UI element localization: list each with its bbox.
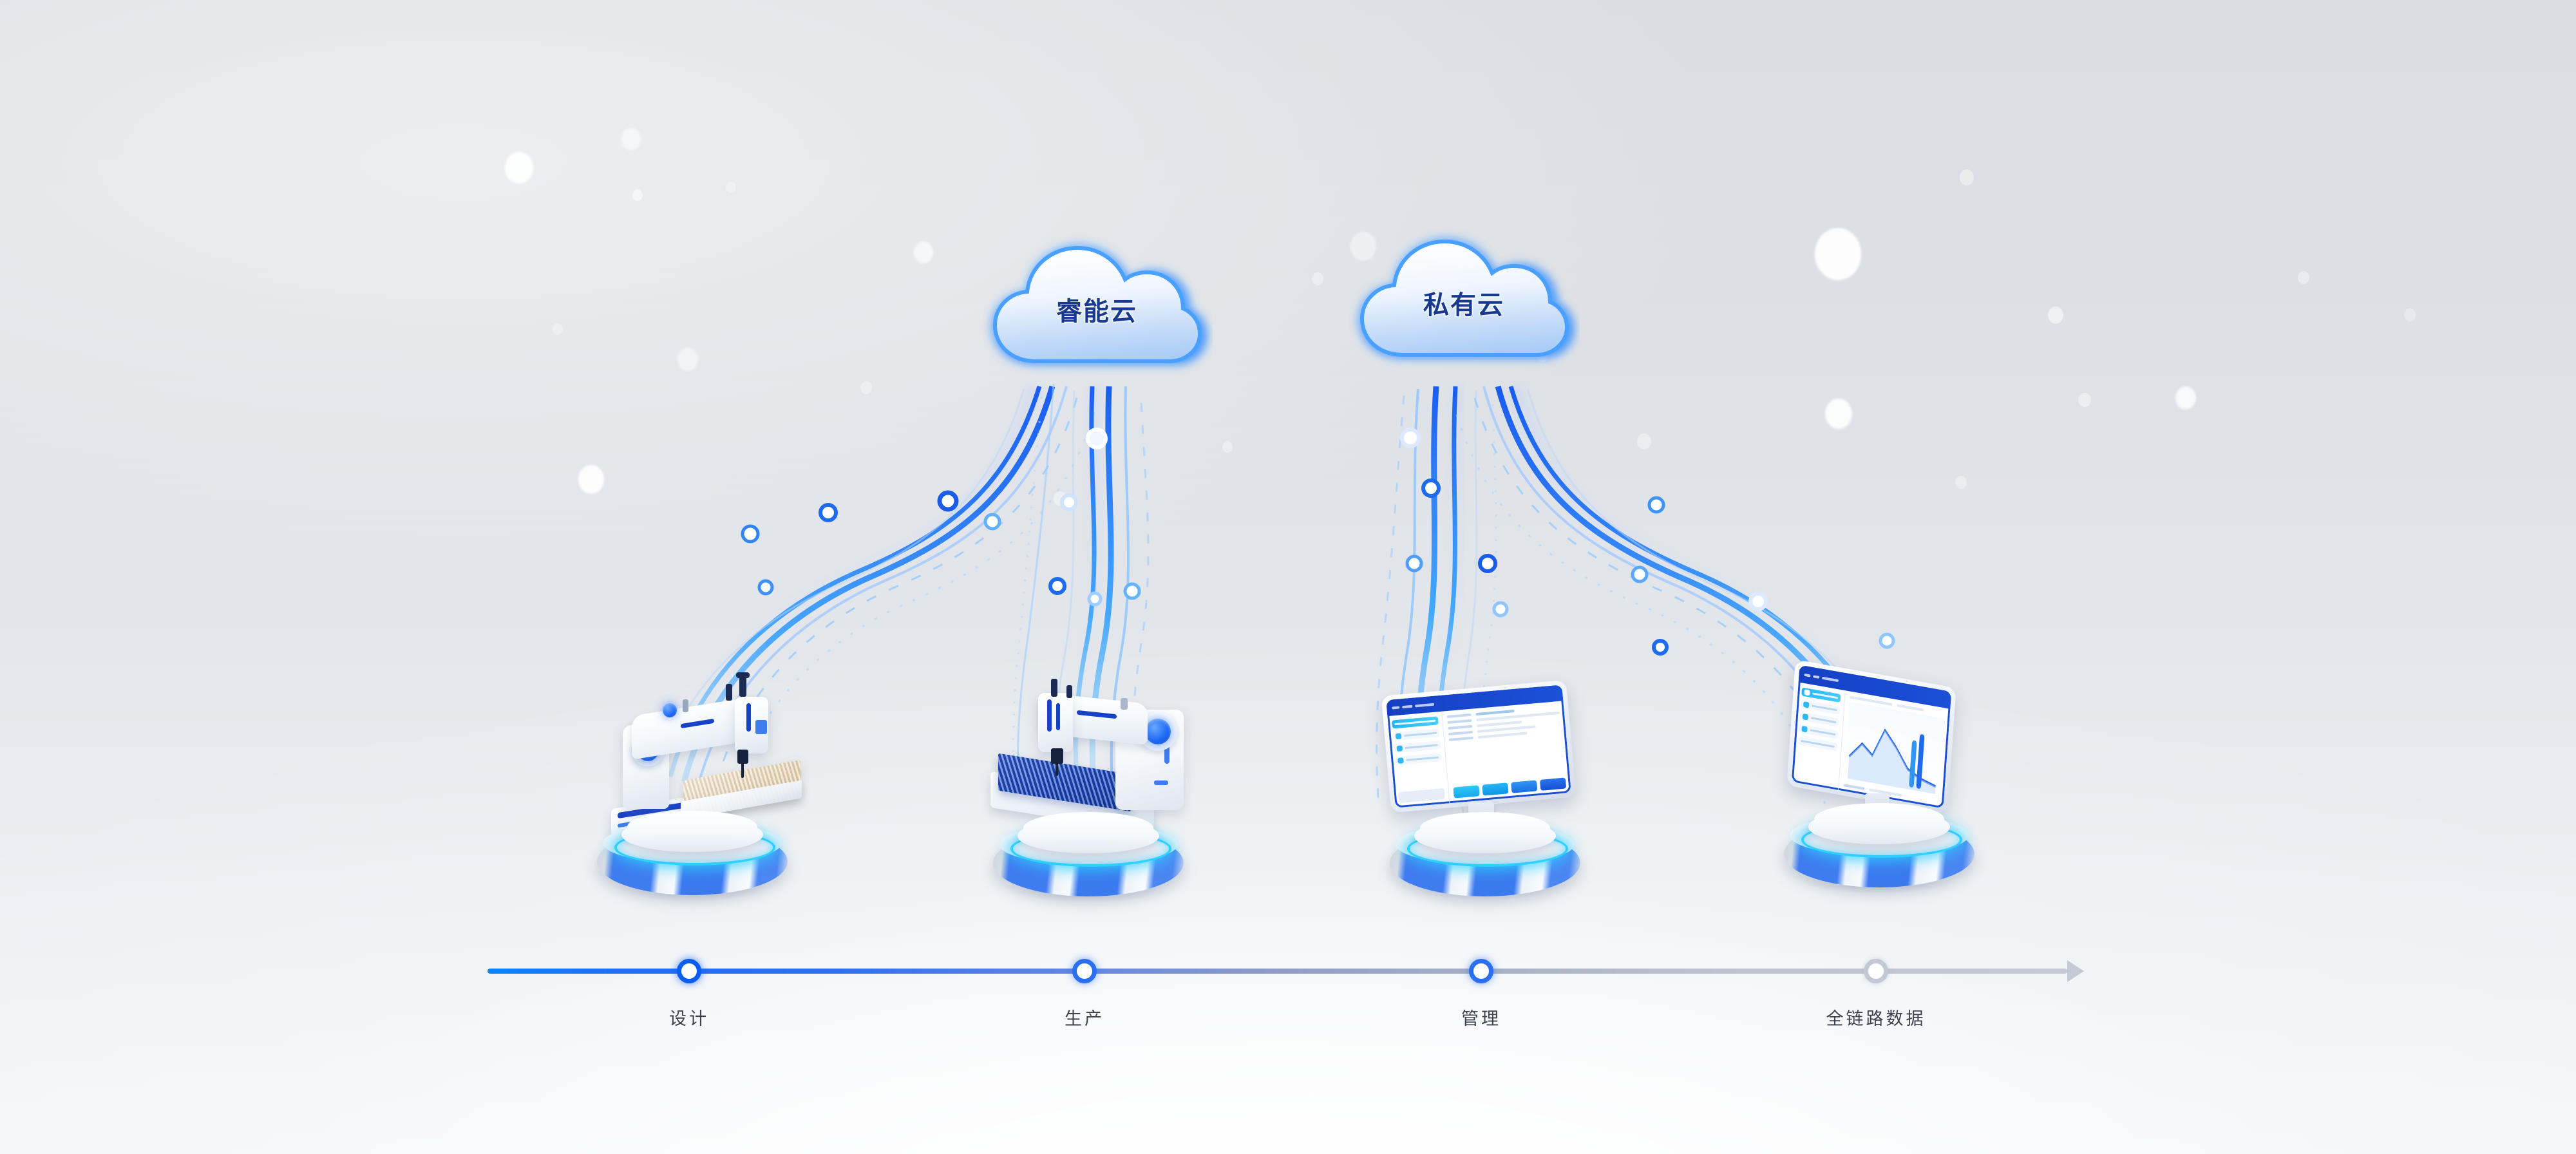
topbar-text-1 (1392, 706, 1399, 709)
bokeh-dot (553, 323, 563, 335)
timeline-label-1: 设计 (669, 1005, 709, 1030)
cloud-shape-icon (1348, 222, 1580, 377)
machine-head (1038, 693, 1073, 752)
topbar-text-2 (1813, 675, 1819, 679)
dashboard-sidebar[interactable] (1387, 712, 1450, 808)
bokeh-dot (726, 182, 736, 193)
sidebar-item-selected[interactable] (1392, 717, 1439, 729)
bokeh-dot (621, 128, 641, 150)
cloud-shape-icon (981, 229, 1213, 383)
action-button-4[interactable] (1540, 777, 1566, 790)
timeline-node-3[interactable] (1469, 959, 1493, 983)
pedestal (1784, 820, 1975, 887)
background-particles (0, 0, 2576, 1154)
spool-pin-2 (1066, 685, 1072, 698)
timeline-node-2[interactable] (1072, 959, 1097, 983)
sidebar-item-icon (1801, 726, 1808, 733)
head-stripe (1047, 699, 1052, 732)
timeline-label-2: 生产 (1065, 1005, 1104, 1030)
sidebar-item-icon (1803, 701, 1810, 708)
sidebar-item-icon (1804, 689, 1810, 696)
device-data-monitor[interactable] (1772, 665, 1985, 896)
pedestal-inner-top (627, 811, 757, 843)
sidebar-item[interactable] (1395, 753, 1442, 765)
action-button-2[interactable] (1482, 782, 1508, 795)
head-stripe (746, 703, 751, 732)
sidebar-item-label (1811, 717, 1837, 724)
sidebar-item-icon (1396, 746, 1403, 752)
monitor-frame (1381, 680, 1577, 813)
pedestal-inner-top (1023, 812, 1153, 844)
sidebar-item-label (1405, 744, 1438, 749)
timeline-node-4[interactable] (1864, 959, 1888, 983)
head-indicator (755, 720, 767, 734)
sidebar-item-icon (1803, 714, 1809, 721)
sidebar-item-label (1810, 730, 1835, 736)
bokeh-dot (914, 241, 933, 263)
timeline-arrow-icon (2067, 960, 2084, 982)
topbar-text-3 (1822, 676, 1839, 682)
spool-cap (736, 672, 750, 678)
sidebar-item-icon (1397, 757, 1404, 764)
dashboard-screen[interactable] (1386, 685, 1571, 808)
bokeh-dot (860, 381, 872, 394)
sidebar-item-label (1406, 757, 1439, 761)
spool-pin-1 (1051, 679, 1057, 697)
detail-value (1476, 710, 1515, 715)
cloud-private[interactable]: 私有云 (1348, 222, 1580, 377)
needle-clamp (737, 750, 748, 764)
line-and-bar-chart (1844, 702, 1945, 798)
thread-guide (683, 699, 688, 712)
head-stripe-2 (1056, 703, 1060, 730)
analytics-sidebar[interactable] (1792, 683, 1846, 790)
detail-key (1448, 731, 1473, 735)
pedestal (993, 829, 1184, 896)
bokeh-dot (1222, 441, 1233, 453)
topbar-text-3 (1415, 703, 1434, 707)
sidebar-footer-button[interactable] (1398, 788, 1445, 803)
bokeh-dot (2298, 271, 2309, 284)
topbar-text-1 (1804, 673, 1810, 677)
sidebar-item-label (1812, 705, 1837, 712)
spool-pin-1 (726, 684, 732, 701)
sidebar-item[interactable] (1394, 741, 1441, 753)
action-button-1[interactable] (1453, 785, 1479, 798)
bokeh-dot (2404, 308, 2416, 321)
bokeh-dot (1054, 491, 1066, 506)
needle (1056, 762, 1058, 776)
bokeh-dot (1955, 476, 1967, 489)
bokeh-dot (578, 465, 604, 494)
bokeh-dot (505, 152, 533, 184)
device-management-monitor[interactable] (1378, 676, 1591, 902)
needle (741, 762, 744, 778)
detail-key (1447, 719, 1472, 724)
analytics-screen[interactable] (1792, 665, 1951, 808)
pedestal-inner-top (1420, 812, 1549, 844)
monitor-frame (1786, 659, 1956, 814)
sidebar-item[interactable] (1798, 737, 1837, 752)
bokeh-dot (1825, 399, 1852, 429)
bokeh-dot (677, 348, 698, 371)
device-design-machine[interactable] (583, 663, 802, 902)
action-button-3[interactable] (1511, 780, 1537, 793)
handwheel[interactable] (1145, 719, 1171, 744)
sidebar-item-label (1394, 720, 1435, 726)
chart-area (1844, 702, 1945, 798)
detail-key (1447, 714, 1472, 718)
analytics-main (1839, 691, 1950, 809)
sidebar-item[interactable] (1393, 728, 1440, 741)
detail-key (1449, 737, 1474, 741)
bokeh-dot (1815, 228, 1861, 280)
bokeh-dot (632, 189, 643, 201)
bokeh-dot (2175, 386, 2196, 410)
topbar-text-2 (1402, 705, 1412, 708)
detail-value (1477, 721, 1522, 727)
device-production-machine[interactable] (979, 670, 1198, 908)
sidebar-item-label (1801, 740, 1834, 748)
dashboard-body (1387, 701, 1571, 808)
bokeh-dot (1312, 272, 1323, 285)
sidebar-item-label (1812, 693, 1838, 699)
timeline-label-3: 管理 (1461, 1005, 1501, 1030)
action-button-row[interactable] (1453, 777, 1566, 798)
sidebar-item-label (1404, 732, 1437, 737)
bokeh-dot (2078, 393, 2091, 407)
spool-pin-2 (739, 675, 746, 697)
timeline-node-1[interactable] (677, 959, 701, 983)
pedestal-inner-top (1814, 803, 1944, 835)
detail-value (1478, 732, 1528, 739)
timeline-label-4: 全链路数据 (1826, 1005, 1926, 1030)
dashboard-main (1442, 701, 1571, 803)
detail-key (1448, 725, 1473, 730)
tension-dial[interactable] (663, 703, 677, 717)
bokeh-dot (1637, 433, 1651, 449)
scene-canvas: 睿能云 私有云 (0, 0, 2576, 1154)
column-stripe-2 (1154, 780, 1168, 785)
pedestal (597, 828, 788, 895)
timeline-track (488, 969, 2067, 974)
sidebar-item-icon (1396, 733, 1402, 740)
footer-key (1843, 784, 1864, 790)
bokeh-dot (1960, 169, 1974, 185)
pedestal (1390, 829, 1580, 896)
thread-guide (1121, 698, 1128, 710)
bokeh-dot (2048, 307, 2063, 324)
cloud-public[interactable]: 睿能云 (981, 229, 1213, 383)
